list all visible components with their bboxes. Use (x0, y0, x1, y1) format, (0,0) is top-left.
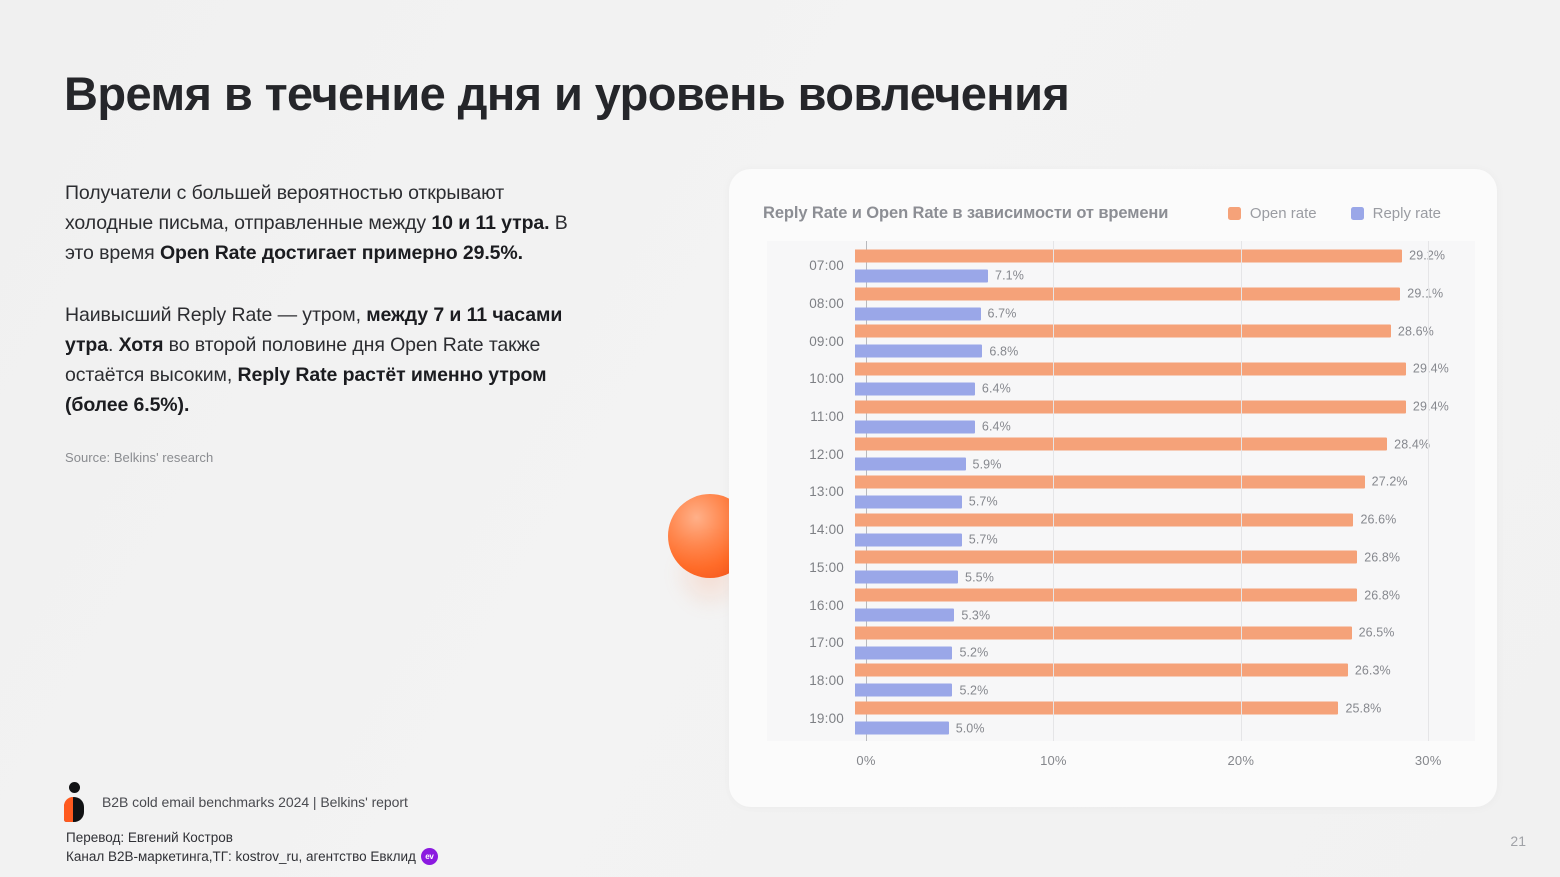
bar-value-label: 25.8% (1345, 701, 1381, 715)
gridline-10% (1053, 241, 1054, 741)
p2-bold2: Хотя (119, 334, 164, 356)
bar-open-rate[interactable] (855, 702, 1338, 715)
bar-value-label: 29.4% (1413, 362, 1449, 376)
credits-line-2: Канал B2B-маркетинга,ТГ: kostrov_ru, аге… (66, 847, 438, 866)
chart-row: 18:0026.3%5.2% (767, 662, 1475, 700)
row-label-1300: 13:00 (767, 484, 855, 499)
bar-reply-rate[interactable] (855, 571, 958, 584)
chart-header: Reply Rate и Open Rate в зависимости от … (763, 201, 1467, 225)
row-bars: 26.8%5.3% (855, 586, 1475, 624)
row-label-1600: 16:00 (767, 598, 855, 613)
row-label-1500: 15:00 (767, 560, 855, 575)
bar-line: 26.8% (855, 551, 1475, 564)
bar-line: 5.3% (855, 609, 1475, 622)
translator-text: Перевод: Евгений Костров (66, 828, 233, 847)
bar-line: 26.8% (855, 589, 1475, 602)
row-bars: 26.3%5.2% (855, 662, 1475, 700)
p2-part1: Наивысший Reply Rate — утром, (65, 304, 366, 326)
bar-open-rate[interactable] (855, 475, 1365, 488)
bar-value-label: 5.2% (959, 683, 988, 697)
legend-swatch-icon (1228, 207, 1241, 220)
row-bars: 29.1%6.7% (855, 285, 1475, 323)
bar-value-label: 26.8% (1364, 588, 1400, 602)
bar-reply-rate[interactable] (855, 458, 966, 471)
chart-row: 12:0028.4%5.9% (767, 435, 1475, 473)
bar-line: 5.7% (855, 533, 1475, 546)
bar-reply-rate[interactable] (855, 420, 975, 433)
bar-open-rate[interactable] (855, 438, 1387, 451)
chart-row: 14:0026.6%5.7% (767, 511, 1475, 549)
bar-open-rate[interactable] (855, 249, 1402, 262)
bar-line: 6.4% (855, 382, 1475, 395)
chart-title: Reply Rate и Open Rate в зависимости от … (763, 204, 1168, 223)
page-number: 21 (1510, 833, 1526, 849)
bar-value-label: 5.2% (959, 646, 988, 660)
x-tick-30%: 30% (1415, 753, 1442, 768)
x-axis: 0%10%20%30% (767, 741, 1475, 781)
row-bars: 27.2%5.7% (855, 473, 1475, 511)
bar-value-label: 7.1% (995, 269, 1024, 283)
chart-row: 19:0025.8%5.0% (767, 699, 1475, 737)
bar-value-label: 29.2% (1409, 249, 1445, 263)
p2-part2: . (108, 334, 119, 356)
legend-label: Reply rate (1373, 205, 1441, 222)
paragraph-2: Наивысший Reply Rate — утром, между 7 и … (65, 300, 595, 420)
chart-row: 17:0026.5%5.2% (767, 624, 1475, 662)
row-bars: 25.8%5.0% (855, 699, 1475, 737)
bar-line: 29.4% (855, 362, 1475, 375)
bar-value-label: 26.6% (1360, 513, 1396, 527)
row-label-1400: 14:00 (767, 522, 855, 537)
bar-open-rate[interactable] (855, 589, 1357, 602)
chart-row: 13:0027.2%5.7% (767, 473, 1475, 511)
footer-caption: B2B cold email benchmarks 2024 | Belkins… (102, 794, 408, 810)
bar-reply-rate[interactable] (855, 307, 981, 320)
footer-credits: Перевод: Евгений Костров Канал B2B-марке… (66, 828, 438, 866)
row-label-1800: 18:00 (767, 673, 855, 688)
bar-line: 5.5% (855, 571, 1475, 584)
bar-value-label: 5.7% (969, 495, 998, 509)
footer-logo-row: B2B cold email benchmarks 2024 | Belkins… (62, 782, 408, 822)
channel-text: Канал B2B-маркетинга,ТГ: kostrov_ru, аге… (66, 847, 416, 866)
paragraph-1: Получатели с большей вероятностью открыв… (65, 178, 595, 268)
bar-open-rate[interactable] (855, 664, 1348, 677)
bar-line: 27.2% (855, 475, 1475, 488)
bar-value-label: 5.9% (973, 457, 1002, 471)
bar-line: 5.7% (855, 495, 1475, 508)
p1-bold2: Open Rate достигает примерно 29.5%. (160, 242, 523, 264)
bar-reply-rate[interactable] (855, 609, 954, 622)
bar-line: 26.3% (855, 664, 1475, 677)
row-label-1900: 19:00 (767, 711, 855, 726)
bar-reply-rate[interactable] (855, 345, 982, 358)
row-label-0700: 07:00 (767, 258, 855, 273)
bar-reply-rate[interactable] (855, 684, 952, 697)
bar-value-label: 6.8% (989, 344, 1018, 358)
gridline-20% (1241, 241, 1242, 741)
bar-value-label: 5.5% (965, 570, 994, 584)
source-note: Source: Belkins' research (65, 450, 595, 465)
bar-open-rate[interactable] (855, 362, 1406, 375)
credits-line-1: Перевод: Евгений Костров (66, 828, 438, 847)
bar-reply-rate[interactable] (855, 495, 962, 508)
row-bars: 26.8%5.5% (855, 549, 1475, 587)
x-tick-10%: 10% (1040, 753, 1067, 768)
chart-row: 11:0029.4%6.4% (767, 398, 1475, 436)
chart-card: Reply Rate и Open Rate в зависимости от … (729, 169, 1497, 807)
bar-value-label: 29.4% (1413, 400, 1449, 414)
plot-area: 07:0029.2%7.1%08:0029.1%6.7%09:0028.6%6.… (767, 241, 1475, 741)
bar-value-label: 29.1% (1407, 287, 1443, 301)
logo-accent-shape (64, 797, 73, 822)
page-title: Время в течение дня и уровень вовлечения (64, 68, 1069, 121)
bar-line: 5.2% (855, 684, 1475, 697)
chart-row: 07:0029.2%7.1% (767, 247, 1475, 285)
bar-line: 6.8% (855, 345, 1475, 358)
bar-value-label: 5.7% (969, 533, 998, 547)
bar-line: 7.1% (855, 269, 1475, 282)
row-label-1700: 17:00 (767, 635, 855, 650)
bar-value-label: 6.7% (988, 307, 1017, 321)
bar-value-label: 6.4% (982, 420, 1011, 434)
bar-value-label: 6.4% (982, 382, 1011, 396)
row-label-1100: 11:00 (767, 409, 855, 424)
bar-value-label: 28.4% (1394, 437, 1430, 451)
bar-open-rate[interactable] (855, 400, 1406, 413)
copy-block: Получатели с большей вероятностью открыв… (65, 178, 595, 465)
chart-row: 09:0028.6%6.8% (767, 322, 1475, 360)
slide-root: Время в течение дня и уровень вовлечения… (0, 0, 1560, 877)
bar-line: 29.1% (855, 287, 1475, 300)
chart-legend: Open rateReply rate (1228, 205, 1467, 222)
bar-open-rate[interactable] (855, 325, 1391, 338)
legend-label: Open rate (1250, 205, 1317, 222)
bar-reply-rate[interactable] (855, 533, 962, 546)
bar-reply-rate[interactable] (855, 382, 975, 395)
bar-value-label: 5.3% (961, 608, 990, 622)
row-bars: 29.4%6.4% (855, 398, 1475, 436)
gridline-30% (1428, 241, 1429, 741)
row-bars: 26.5%5.2% (855, 624, 1475, 662)
row-bars: 29.2%7.1% (855, 247, 1475, 285)
row-label-1200: 12:00 (767, 447, 855, 462)
row-bars: 28.4%5.9% (855, 435, 1475, 473)
bar-reply-rate[interactable] (855, 269, 988, 282)
bar-line: 5.9% (855, 458, 1475, 471)
row-label-0800: 08:00 (767, 296, 855, 311)
p1-bold1: 10 и 11 утра. (431, 212, 549, 234)
bar-value-label: 5.0% (956, 721, 985, 735)
bar-value-label: 26.8% (1364, 550, 1400, 564)
bar-line: 5.0% (855, 722, 1475, 735)
bar-line: 29.4% (855, 400, 1475, 413)
bar-line: 26.6% (855, 513, 1475, 526)
bar-line: 29.2% (855, 249, 1475, 262)
x-tick-20%: 20% (1227, 753, 1254, 768)
logo-head-shape (69, 782, 80, 793)
belkins-person-icon (62, 782, 88, 822)
chart-row: 08:0029.1%6.7% (767, 285, 1475, 323)
bar-line: 28.4% (855, 438, 1475, 451)
chart-row: 10:0029.4%6.4% (767, 360, 1475, 398)
bar-line: 25.8% (855, 702, 1475, 715)
bar-value-label: 26.3% (1355, 663, 1391, 677)
bar-open-rate[interactable] (855, 551, 1357, 564)
row-label-0900: 09:00 (767, 334, 855, 349)
chart-rows: 07:0029.2%7.1%08:0029.1%6.7%09:0028.6%6.… (767, 241, 1475, 741)
chart-row: 15:0026.8%5.5% (767, 549, 1475, 587)
row-label-1000: 10:00 (767, 371, 855, 386)
bar-line: 26.5% (855, 626, 1475, 639)
bar-line: 28.6% (855, 325, 1475, 338)
row-bars: 29.4%6.4% (855, 360, 1475, 398)
bar-value-label: 27.2% (1372, 475, 1408, 489)
bar-line: 6.4% (855, 420, 1475, 433)
euclid-badge-icon: ev (421, 848, 438, 865)
legend-item-open-rate[interactable]: Open rate (1228, 205, 1317, 222)
bar-reply-rate[interactable] (855, 722, 949, 735)
chart-row: 16:0026.8%5.3% (767, 586, 1475, 624)
bar-open-rate[interactable] (855, 626, 1352, 639)
bar-open-rate[interactable] (855, 287, 1400, 300)
bar-open-rate[interactable] (855, 513, 1353, 526)
bar-line: 5.2% (855, 646, 1475, 659)
row-bars: 26.6%5.7% (855, 511, 1475, 549)
bar-line: 6.7% (855, 307, 1475, 320)
x-tick-0%: 0% (856, 753, 875, 768)
bar-value-label: 26.5% (1359, 626, 1395, 640)
chart-plot: 07:0029.2%7.1%08:0029.1%6.7%09:0028.6%6.… (767, 241, 1475, 781)
legend-item-reply-rate[interactable]: Reply rate (1351, 205, 1441, 222)
row-bars: 28.6%6.8% (855, 322, 1475, 360)
bar-reply-rate[interactable] (855, 646, 952, 659)
legend-swatch-icon (1351, 207, 1364, 220)
